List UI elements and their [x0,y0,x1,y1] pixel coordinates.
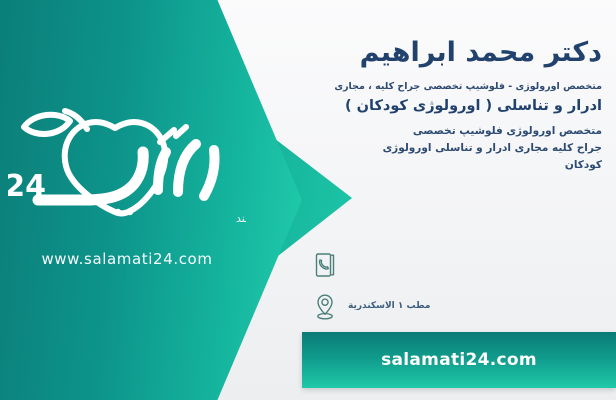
doctor-name: دکتر محمد ابراهیم [314,38,602,68]
logo-website-url: www.salamati24.com [8,250,246,268]
logo-badge-number: 24 [8,169,46,204]
phone-book-icon[interactable] [310,248,340,282]
contact-row-phone[interactable] [310,248,602,282]
logo-badge-24: 24 [8,169,46,204]
doctor-details-line-2: جراح کلیه مجاری ادرار و تناسلی اورولوژی [310,140,602,157]
contact-list: مطب ۱ الاسکندریة [310,248,602,332]
apple-outline-icon: 24 به راحتی یک لبخند [8,96,246,230]
salamati24-logo: 24 به راحتی یک لبخند www.salamati24.com [8,96,246,268]
doctor-details-line-1: متخصص اورولوژی فلوشیپ تخصصی [310,123,602,140]
map-pin-icon[interactable] [310,290,340,324]
contact-address-value: مطب ۱ الاسکندریة [348,301,430,313]
doctor-specialty-line-2: ادرار و تناسلی ( اورولوژی کودکان ) [310,97,602,117]
footer-website: salamati24.com [381,350,537,370]
footer-bar[interactable]: salamati24.com [302,332,616,388]
logo-tagline: به راحتی یک لبخند [236,212,246,225]
business-card: 24 به راحتی یک لبخند www.salamati24.com … [0,0,616,400]
doctor-specialty-line-1: متخصص اورولوژی - فلوشیپ تخصصی جراح کلیه … [310,80,602,94]
doctor-details-line-3: کودکان [310,157,602,174]
contact-row-address[interactable]: مطب ۱ الاسکندریة [310,290,602,324]
